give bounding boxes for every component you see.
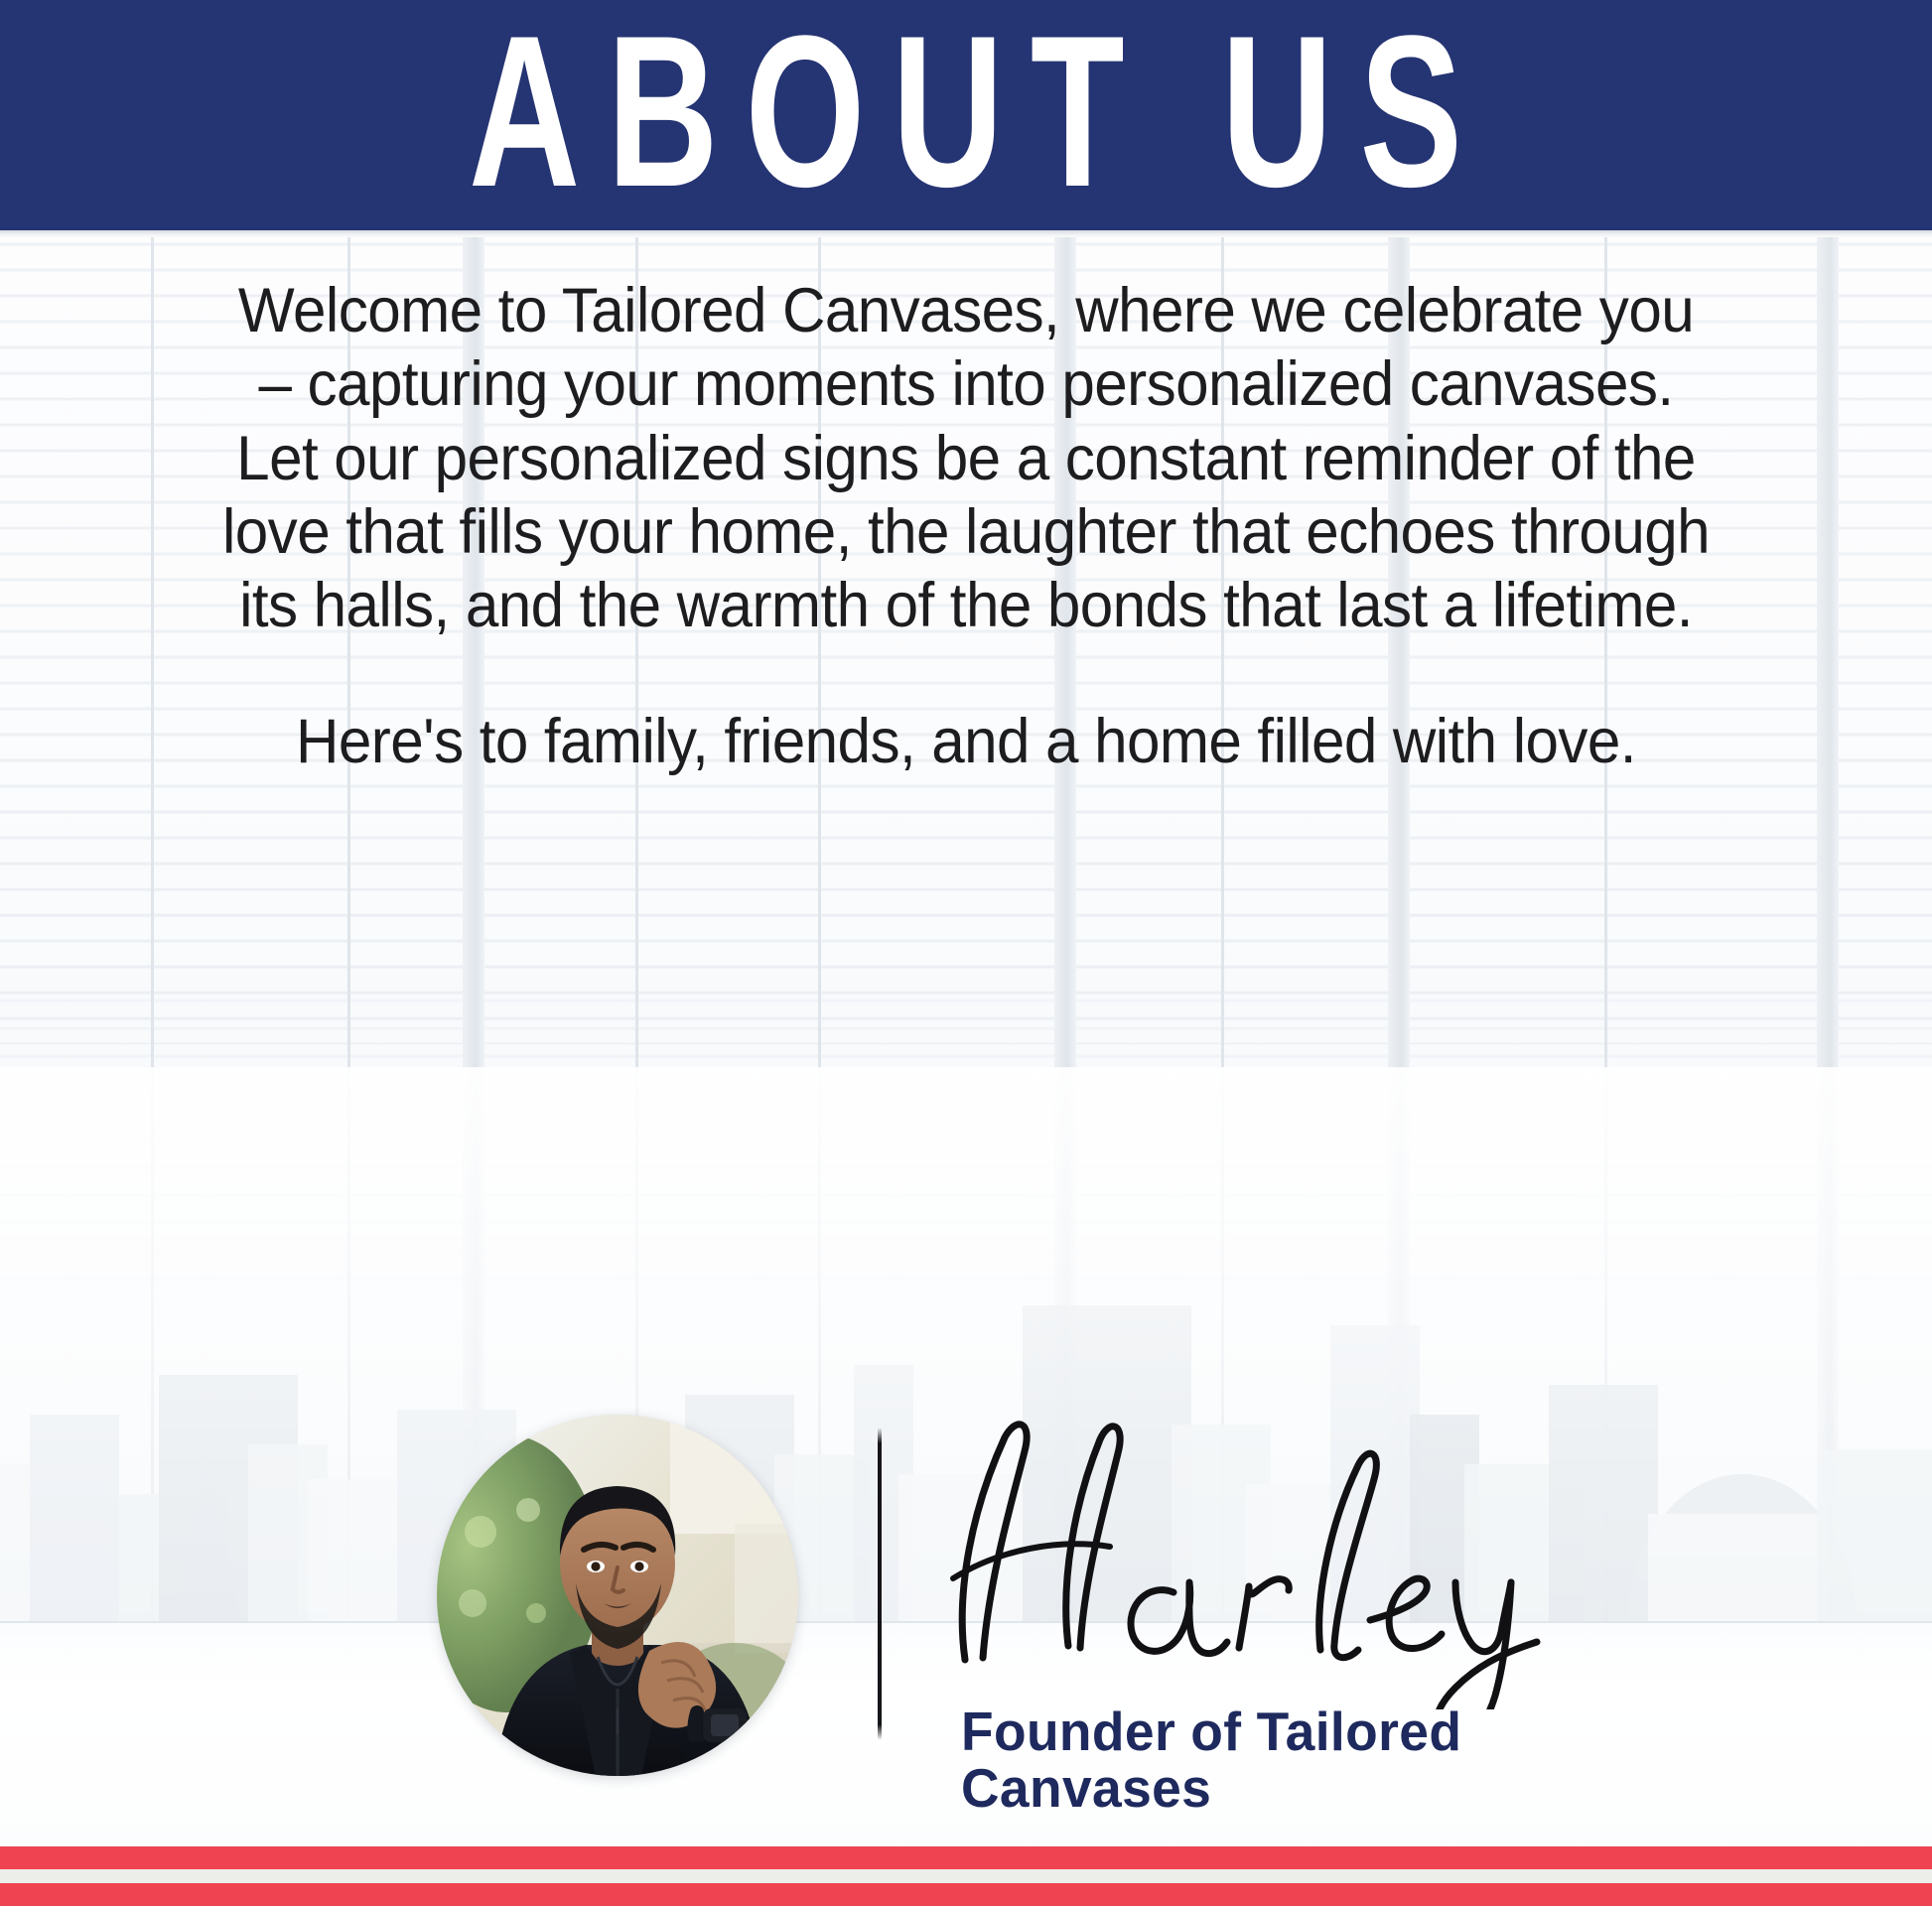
- signature-script: [894, 1412, 1588, 1709]
- about-us-banner: ABOUT US: [0, 0, 1932, 230]
- about-us-copy: Welcome to Tailored Canvases, where we c…: [221, 274, 1710, 778]
- harley-signature-icon: [894, 1412, 1588, 1709]
- footer-stripe-bottom: [0, 1883, 1932, 1906]
- paragraph-spacer: [221, 643, 1710, 705]
- avatar: [437, 1415, 798, 1776]
- signature-divider: [878, 1428, 882, 1740]
- page-title: ABOUT US: [442, 24, 1489, 201]
- about-paragraph-1: Welcome to Tailored Canvases, where we c…: [221, 274, 1710, 643]
- role-line-2: Canvases: [961, 1760, 1654, 1817]
- about-us-page: ABOUT US Welcome to Tailored Canvases, w…: [0, 0, 1932, 1906]
- banner-underline: [0, 230, 1932, 237]
- footer-stripe-gap: [0, 1869, 1932, 1883]
- founder-role: Founder of Tailored Canvases: [961, 1703, 1654, 1817]
- about-paragraph-2: Here's to family, friends, and a home fi…: [221, 705, 1710, 778]
- footer-stripe-top: [0, 1846, 1932, 1869]
- role-line-1: Founder of Tailored: [961, 1703, 1654, 1760]
- founder-portrait-illustration: [437, 1415, 798, 1776]
